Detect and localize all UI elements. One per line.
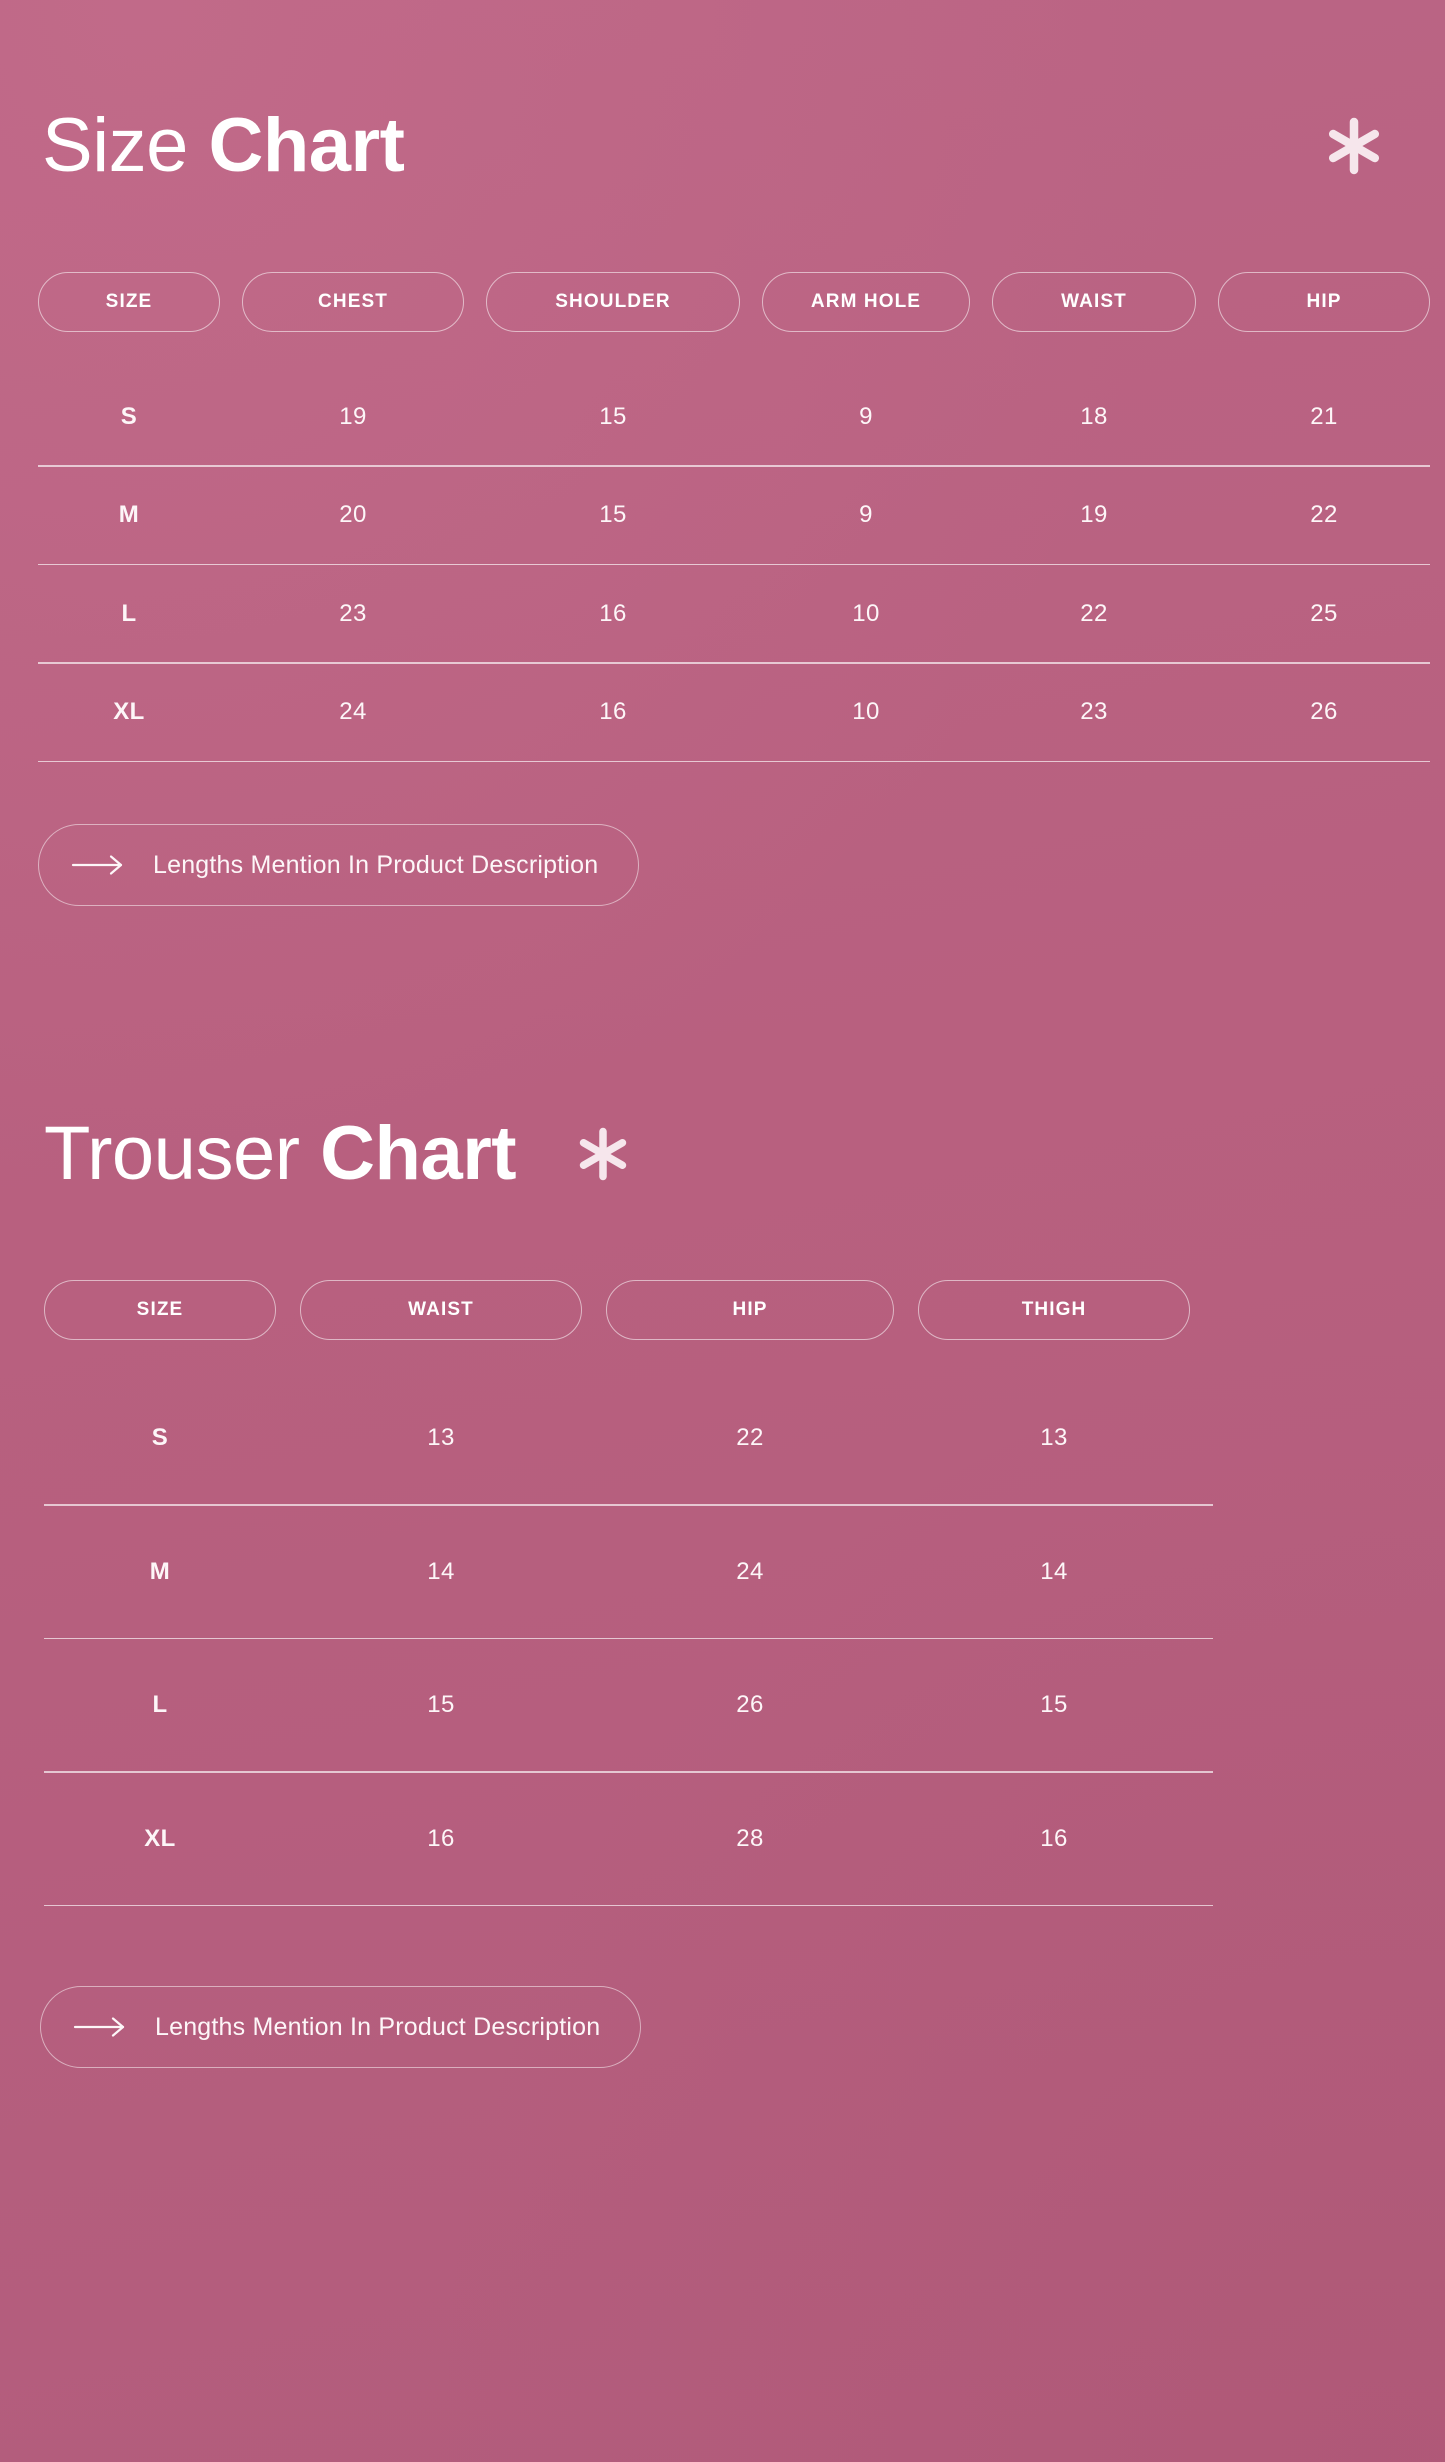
arrow-right-icon bbox=[71, 854, 127, 876]
trouser-chart-note[interactable]: Lengths Mention In Product Description bbox=[40, 1986, 641, 2068]
table-row: L 15 26 15 bbox=[44, 1639, 1445, 1771]
cell-hip: 26 bbox=[1218, 698, 1430, 726]
cell-hip: 22 bbox=[606, 1424, 894, 1452]
column-header-hip[interactable]: HIP bbox=[606, 1280, 894, 1340]
cell-size: XL bbox=[38, 698, 220, 726]
cell-waist: 18 bbox=[992, 403, 1196, 431]
trouser-chart-note-text: Lengths Mention In Product Description bbox=[155, 2013, 600, 2042]
cell-chest: 20 bbox=[242, 501, 464, 529]
column-header-arm-hole[interactable]: ARM HOLE bbox=[762, 272, 970, 332]
cell-shoulder: 16 bbox=[486, 600, 740, 628]
trouser-chart-title: Trouser Chart bbox=[44, 1116, 516, 1192]
column-header-size[interactable]: SIZE bbox=[38, 272, 220, 332]
size-chart-title-bold: Chart bbox=[208, 103, 404, 188]
cell-size: L bbox=[38, 600, 220, 628]
trouser-chart-title-bold: Chart bbox=[320, 1111, 516, 1196]
cell-waist: 22 bbox=[992, 600, 1196, 628]
column-header-chest[interactable]: CHEST bbox=[242, 272, 464, 332]
cell-shoulder: 15 bbox=[486, 403, 740, 431]
table-row: M 14 24 14 bbox=[44, 1506, 1445, 1638]
column-header-thigh[interactable]: THIGH bbox=[918, 1280, 1190, 1340]
column-header-hip[interactable]: HIP bbox=[1218, 272, 1430, 332]
column-header-shoulder[interactable]: SHOULDER bbox=[486, 272, 740, 332]
cell-waist: 16 bbox=[300, 1825, 582, 1853]
cell-size: S bbox=[38, 403, 220, 431]
row-divider bbox=[44, 1905, 1213, 1907]
cell-waist: 23 bbox=[992, 698, 1196, 726]
cell-hip: 28 bbox=[606, 1825, 894, 1853]
trouser-chart-title-light: Trouser bbox=[44, 1111, 300, 1196]
cell-size: M bbox=[44, 1558, 276, 1586]
cell-shoulder: 16 bbox=[486, 698, 740, 726]
table-row: S 19 15 9 18 21 bbox=[38, 368, 1445, 465]
cell-chest: 19 bbox=[242, 403, 464, 431]
cell-waist: 19 bbox=[992, 501, 1196, 529]
cell-chest: 23 bbox=[242, 600, 464, 628]
arrow-right-icon bbox=[73, 2016, 129, 2038]
size-chart-title-light: Size bbox=[42, 103, 188, 188]
cell-hip: 21 bbox=[1218, 403, 1430, 431]
column-header-waist[interactable]: WAIST bbox=[300, 1280, 582, 1340]
column-header-size[interactable]: SIZE bbox=[44, 1280, 276, 1340]
trouser-chart-section: Trouser Chart SIZE WAIST HIP THIGH S bbox=[0, 906, 1445, 2068]
cell-chest: 24 bbox=[242, 698, 464, 726]
size-chart-column-headers: SIZE CHEST SHOULDER ARM HOLE WAIST HIP bbox=[0, 272, 1445, 332]
row-divider bbox=[38, 761, 1430, 763]
size-chart-title: Size Chart bbox=[42, 108, 404, 184]
cell-hip: 25 bbox=[1218, 600, 1430, 628]
cell-shoulder: 15 bbox=[486, 501, 740, 529]
cell-thigh: 14 bbox=[918, 1558, 1190, 1586]
size-chart-note-wrap: Lengths Mention In Product Description bbox=[0, 824, 1445, 906]
size-chart-note[interactable]: Lengths Mention In Product Description bbox=[38, 824, 639, 906]
trouser-chart-note-wrap: Lengths Mention In Product Description bbox=[0, 1986, 1445, 2068]
asterisk-icon bbox=[574, 1125, 632, 1183]
cell-size: S bbox=[44, 1424, 276, 1452]
cell-hip: 26 bbox=[606, 1691, 894, 1719]
cell-arm-hole: 10 bbox=[762, 600, 970, 628]
table-row: M 20 15 9 19 22 bbox=[38, 467, 1445, 564]
cell-thigh: 15 bbox=[918, 1691, 1190, 1719]
cell-waist: 13 bbox=[300, 1424, 582, 1452]
cell-size: M bbox=[38, 501, 220, 529]
cell-thigh: 13 bbox=[918, 1424, 1190, 1452]
size-chart-note-text: Lengths Mention In Product Description bbox=[153, 851, 598, 880]
cell-arm-hole: 9 bbox=[762, 403, 970, 431]
size-chart-page: Size Chart SIZE CHEST SHOULDER ARM HOLE … bbox=[0, 0, 1445, 2462]
cell-thigh: 16 bbox=[918, 1825, 1190, 1853]
cell-hip: 24 bbox=[606, 1558, 894, 1586]
cell-size: L bbox=[44, 1691, 276, 1719]
cell-arm-hole: 9 bbox=[762, 501, 970, 529]
cell-hip: 22 bbox=[1218, 501, 1430, 529]
cell-waist: 14 bbox=[300, 1558, 582, 1586]
trouser-chart-table: S 13 22 13 M 14 24 14 L 15 26 15 XL bbox=[0, 1372, 1445, 1906]
cell-arm-hole: 10 bbox=[762, 698, 970, 726]
cell-size: XL bbox=[44, 1825, 276, 1853]
trouser-chart-header: Trouser Chart bbox=[0, 1116, 1445, 1192]
asterisk-icon bbox=[1323, 115, 1385, 177]
cell-waist: 15 bbox=[300, 1691, 582, 1719]
size-chart-header: Size Chart bbox=[0, 108, 1445, 184]
size-chart-section: Size Chart SIZE CHEST SHOULDER ARM HOLE … bbox=[0, 0, 1445, 906]
column-header-waist[interactable]: WAIST bbox=[992, 272, 1196, 332]
size-chart-table: S 19 15 9 18 21 M 20 15 9 19 22 L 23 16 bbox=[0, 368, 1445, 762]
trouser-chart-column-headers: SIZE WAIST HIP THIGH bbox=[0, 1280, 1445, 1340]
table-row: L 23 16 10 22 25 bbox=[38, 565, 1445, 662]
table-row: XL 24 16 10 23 26 bbox=[38, 664, 1445, 761]
table-row: S 13 22 13 bbox=[44, 1372, 1445, 1504]
table-row: XL 16 28 16 bbox=[44, 1773, 1445, 1905]
